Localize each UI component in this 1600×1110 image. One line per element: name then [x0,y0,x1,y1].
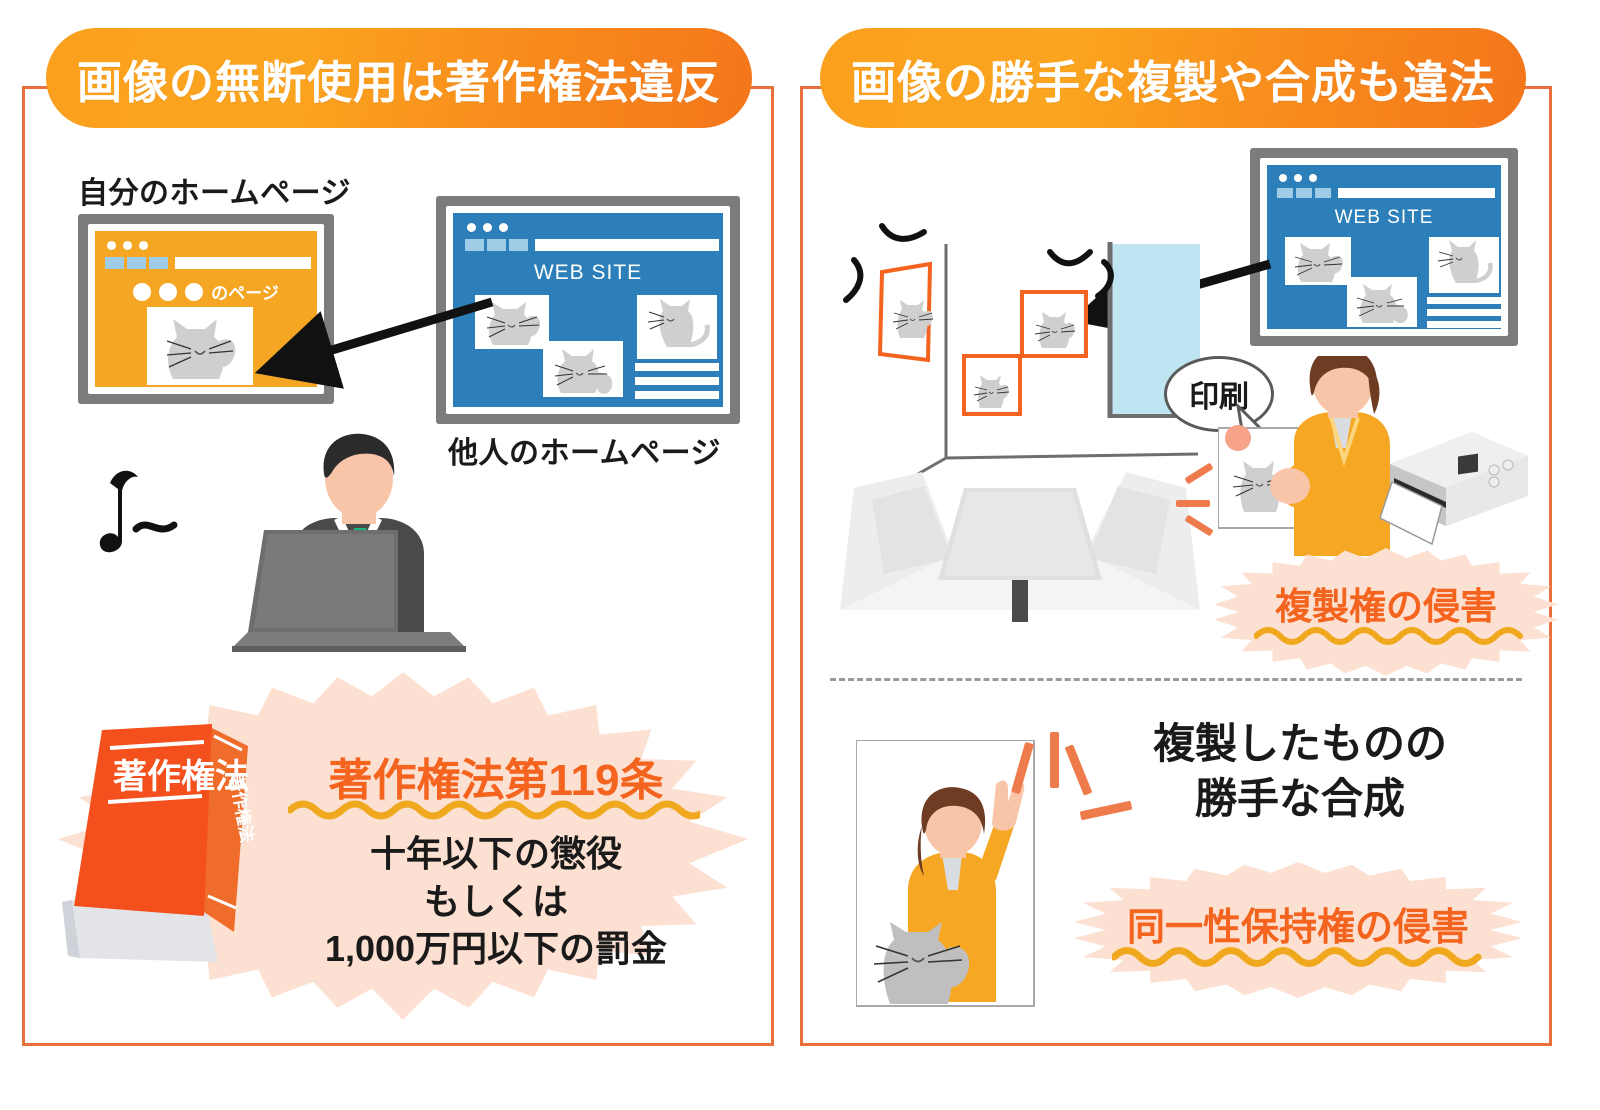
tab-row-other [465,239,719,251]
panel-right-header: 画像の勝手な複製や合成も違法 [820,28,1526,128]
panel-left-header: 画像の無断使用は著作権法違反 [46,28,752,128]
address-bar[interactable] [535,239,719,251]
browser-tab[interactable] [1296,188,1312,198]
integrity-right-badge-title: 同一性保持権の侵害 [1074,896,1522,951]
reproduction-right-badge-title: 複製権の侵害 [1214,576,1558,630]
window-dot [1279,174,1287,182]
browser-other-page-right: WEB SITE [1267,165,1501,329]
framed-cat-picture-3 [964,356,1020,414]
cat-silhouette-icon [1347,277,1417,327]
panel-right-header-text: 画像の勝手な複製や合成も違法 [851,46,1495,111]
impact-ray [1176,500,1210,507]
label-own-homepage: 自分のホームページ [78,168,351,212]
reproduction-right-underline [1254,624,1526,646]
browser-tab[interactable] [1315,188,1331,198]
window-dot [1294,174,1302,182]
window-dots-other [467,223,508,232]
window-dot [499,223,508,232]
window-dots-own [107,241,148,250]
window-dot [483,223,492,232]
bullet-circle [133,283,151,301]
framed-cat-picture-2 [1022,292,1086,356]
infographic-stage: 画像の無断使用は著作権法違反 自分のホームページ [0,0,1600,1110]
own-site-cat-photo [147,307,253,385]
other-site-cat-photo-2 [637,295,717,359]
bullet-circle [185,283,203,301]
cat-silhouette-icon [147,307,253,385]
window-dot [107,241,116,250]
content-line [1427,309,1501,316]
other-site-cat-photo-3 [543,341,623,397]
window-dot [467,223,476,232]
tab-row-own [105,257,311,269]
content-line [1427,297,1501,304]
tab-row-other-right [1277,188,1495,198]
browser-tab[interactable] [1277,188,1293,198]
content-line [635,363,719,371]
penalty-title-underline [288,798,700,820]
right-site-cat-photo-3 [1347,277,1417,327]
composite-heading: 複製したものの 勝手な合成 [1090,716,1510,827]
browser-tab[interactable] [465,239,484,251]
other-site-title-right: WEB SITE [1267,207,1501,229]
browser-tab[interactable] [127,257,146,269]
furniture-group [840,472,1200,622]
browser-tab[interactable] [509,239,528,251]
cat-silhouette-icon [543,341,623,397]
bullet-circle [159,283,177,301]
impact-ray [1050,732,1059,788]
integrity-right-underline [1112,944,1484,968]
content-line [635,391,719,399]
cat-silhouette-icon [1429,237,1499,293]
cat-silhouette-icon [637,295,717,359]
address-bar[interactable] [1338,188,1495,198]
right-site-cat-photo-2 [1429,237,1499,293]
penalty-body-text: 十年以下の懲役 もしくは 1,000万円以下の罰金 [296,830,696,973]
law-book-icon: 著作権法 著作権法 [58,710,288,975]
section-divider [830,678,1522,681]
address-bar[interactable] [175,257,311,269]
content-line [1427,321,1501,328]
man-with-laptop [216,432,516,660]
browser-other-site-right: WEB SITE [1250,148,1518,346]
panel-left-header-text: 画像の無断使用は著作権法違反 [77,46,721,111]
window-dot [139,241,148,250]
printer-icon [1376,418,1536,548]
right-site-cat-photo-1 [1285,237,1351,285]
browser-tab[interactable] [487,239,506,251]
cat-silhouette-icon [1285,237,1351,285]
framed-cat-picture-1 [880,264,933,360]
music-note-icon [96,455,216,570]
content-line [635,377,719,385]
window-dot [123,241,132,250]
browser-other-inner-right: WEB SITE [1260,158,1508,336]
copy-arrow-left-panel [240,280,500,390]
browser-tab[interactable] [149,257,168,269]
window-dots-other-right [1279,174,1317,182]
browser-tab[interactable] [105,257,124,269]
composited-photo [856,740,1036,1008]
window-dot [1309,174,1317,182]
